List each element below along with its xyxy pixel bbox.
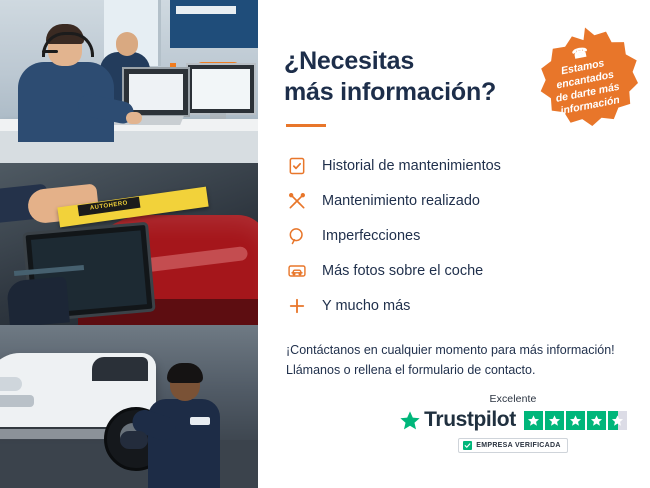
promo-card: AUTOHERO ¿Necesi <box>0 0 650 488</box>
check-icon <box>463 441 472 450</box>
verified-company-badge: EMPRESA VERIFICADA <box>458 438 567 453</box>
white-car-headlight <box>0 377 22 391</box>
trustpilot-rating-label: Excelente <box>394 393 632 405</box>
car-lift-arm <box>0 429 120 439</box>
desktop-monitor <box>186 63 256 115</box>
title-underline-rule <box>286 124 326 127</box>
colleague-head <box>116 32 138 56</box>
headline-line-2: más información? <box>284 77 534 108</box>
contact-line-1: ¡Contáctanos en cualquier momento para m… <box>286 343 615 357</box>
magnifier-icon <box>286 225 308 247</box>
trustpilot-star-icon <box>399 410 421 431</box>
tools-wrench-screwdriver-icon <box>286 190 308 212</box>
headset-icon: ☎ <box>571 45 589 61</box>
content-panel: ¿Necesitas más información? Historial de… <box>258 0 650 488</box>
headline-line-1: ¿Necesitas <box>284 47 414 75</box>
headset-mic-icon <box>42 50 58 53</box>
feature-label: Y mucho más <box>322 297 410 315</box>
car-photo-icon <box>286 260 308 282</box>
feature-label: Historial de mantenimientos <box>322 157 501 175</box>
list-item: Mantenimiento realizado <box>286 184 620 217</box>
trustpilot-logo: Trustpilot <box>399 408 516 432</box>
contact-text: ¡Contáctanos en cualquier momento para m… <box>286 340 620 380</box>
feature-label: Más fotos sobre el coche <box>322 262 483 280</box>
trustpilot-stars <box>524 411 627 430</box>
star-filled-1 <box>524 411 543 430</box>
star-half-5 <box>608 411 627 430</box>
mechanic-glove-hand <box>120 431 148 449</box>
mechanic-uniform <box>148 399 220 488</box>
trustpilot-widget[interactable]: Excelente Trustpilot <box>394 393 632 454</box>
star-filled-2 <box>545 411 564 430</box>
photo-mechanic-wheel <box>0 325 258 488</box>
photo-column: AUTOHERO <box>0 0 258 488</box>
office-banner-stripe <box>176 6 236 14</box>
star-filled-4 <box>587 411 606 430</box>
mechanic-glove <box>6 276 70 325</box>
contact-line-2: Llámanos o rellena el formulario de cont… <box>286 363 535 377</box>
uniform-badge <box>190 417 210 425</box>
star-filled-3 <box>566 411 585 430</box>
trustpilot-wordmark: Trustpilot <box>424 408 516 432</box>
list-item: Imperfecciones <box>286 219 620 252</box>
photo-advisor-office <box>0 0 258 163</box>
feature-list: Historial de mantenimientos Mantenimient… <box>286 149 620 322</box>
mechanic-hair <box>167 363 203 383</box>
status-badge: ☎ Estamos encantados de darte más inform… <box>532 26 638 132</box>
white-car-grille <box>0 395 34 407</box>
feature-label: Mantenimiento realizado <box>322 192 480 210</box>
wheel-mechanic-figure <box>148 369 220 488</box>
clipboard-check-icon <box>286 155 308 177</box>
feature-label: Imperfecciones <box>322 227 420 245</box>
photo-mechanic-tablet: AUTOHERO <box>0 163 258 325</box>
white-car-window <box>92 357 148 381</box>
plus-icon <box>286 295 308 317</box>
list-item: Y mucho más <box>286 289 620 322</box>
page-title: ¿Necesitas más información? <box>284 46 534 108</box>
advisor-hand <box>126 112 142 124</box>
list-item: Historial de mantenimientos <box>286 149 620 182</box>
advisor-figure <box>18 28 114 140</box>
verified-label: EMPRESA VERIFICADA <box>476 442 560 449</box>
trustpilot-main-row: Trustpilot <box>394 408 632 432</box>
badge-text: ☎ Estamos encantados de darte más inform… <box>523 17 647 141</box>
list-item: Más fotos sobre el coche <box>286 254 620 287</box>
